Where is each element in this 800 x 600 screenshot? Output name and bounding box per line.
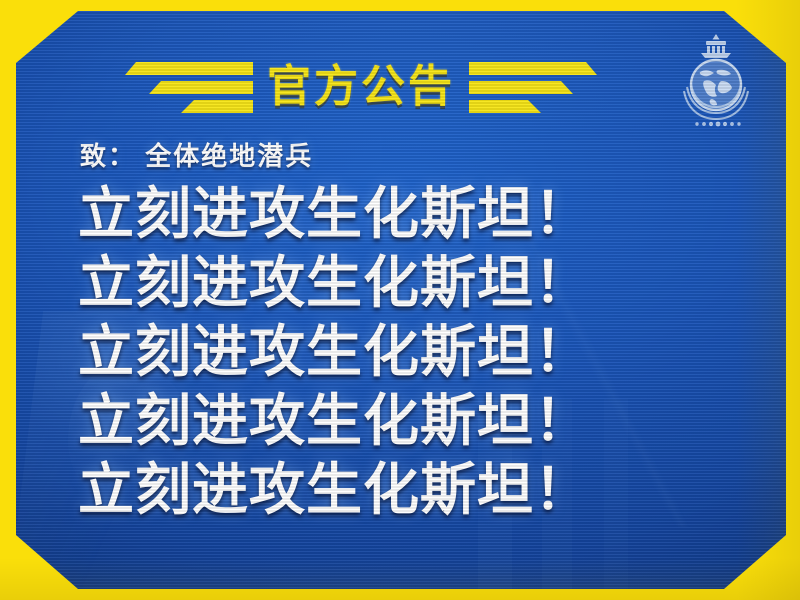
announcement-poster: 官方公告 <box>0 0 800 600</box>
message-line: 立刻进攻生化斯坦！ <box>16 386 786 455</box>
message-line: 立刻进攻生化斯坦！ <box>16 248 786 317</box>
message-line: 立刻进攻生化斯坦！ <box>16 179 786 248</box>
wing-chevron-left-icon <box>125 60 253 114</box>
message-lines: 立刻进攻生化斯坦！ 立刻进攻生化斯坦！ 立刻进攻生化斯坦！ 立刻进攻生化斯坦！ … <box>16 179 786 524</box>
salutation-text: 致： 全体绝地潜兵 <box>80 136 313 173</box>
header-inner: 官方公告 <box>125 60 597 114</box>
super-earth-globe-emblem-icon <box>668 29 764 133</box>
message-line: 立刻进攻生化斯坦！ <box>16 317 786 386</box>
page-title: 官方公告 <box>267 65 455 109</box>
announcement-panel: 官方公告 <box>16 11 786 589</box>
wing-chevron-right-icon <box>469 60 597 114</box>
message-line: 立刻进攻生化斯坦！ <box>16 455 786 524</box>
